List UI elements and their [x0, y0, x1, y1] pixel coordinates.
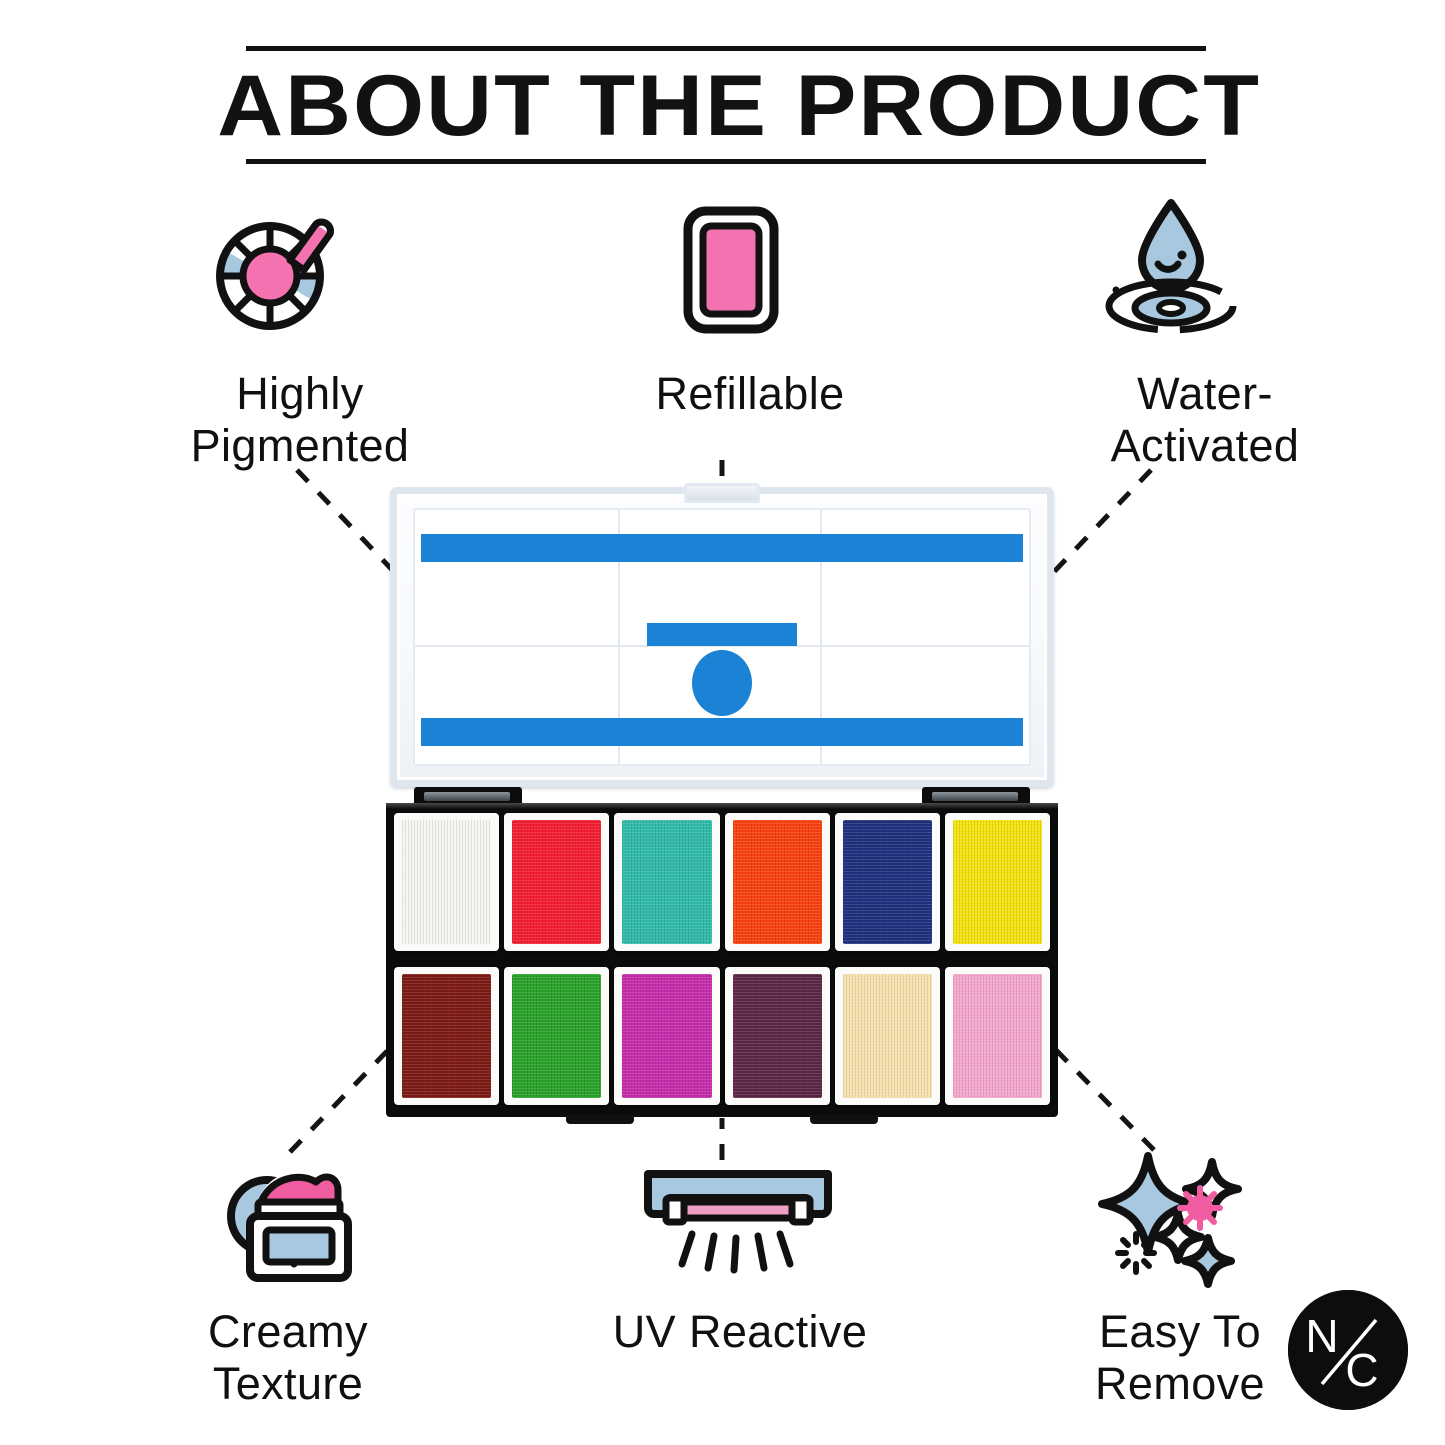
pan-color: [402, 974, 491, 1098]
nc-brand-logo: N C: [1288, 1290, 1408, 1410]
title-rule-bottom: [246, 159, 1206, 164]
pan-cream: [835, 967, 940, 1105]
water-drop-ripple-icon: [1098, 198, 1244, 336]
connector-creamy-texture: [290, 1046, 392, 1152]
sparkles-icon: [1100, 1152, 1260, 1300]
pan-orange-red: [725, 813, 830, 951]
lid-center-dot: [692, 650, 752, 716]
lid-center-bar: [647, 623, 797, 646]
pan-green: [504, 967, 609, 1105]
title-block: ABOUT THE PRODUCT: [246, 46, 1206, 164]
lid-inner-panel: [413, 508, 1031, 766]
pan-color: [622, 820, 711, 944]
connector-water-activated: [1050, 470, 1151, 576]
logo-letter-top: N: [1305, 1310, 1338, 1362]
pan-color: [402, 820, 491, 944]
feature-label-uv-reactive: UV Reactive: [540, 1306, 940, 1358]
pan-light-pink: [945, 967, 1050, 1105]
page-title: ABOUT THE PRODUCT: [217, 57, 1235, 155]
uv-lamp-icon: [640, 1168, 836, 1292]
pan-red: [504, 813, 609, 951]
pan-dark-plum: [725, 967, 830, 1105]
lid-clasp: [684, 483, 760, 503]
pan-color: [843, 974, 932, 1098]
pan-color: [622, 974, 711, 1098]
pan-burgundy: [394, 967, 499, 1105]
pan-teal: [614, 813, 719, 951]
infographic-canvas: ABOUT THE PRODUCT: [0, 0, 1445, 1445]
pan-color: [953, 974, 1042, 1098]
color-wheel-brush-icon: [212, 208, 342, 336]
pan-row-bottom: [394, 967, 1050, 1105]
pan-white: [394, 813, 499, 951]
lid-stripe-bottom: [421, 718, 1023, 746]
palette-base: [386, 803, 1058, 1117]
palette-lid: [390, 487, 1054, 787]
base-foot-right: [810, 1115, 878, 1124]
pan-row-top: [394, 813, 1050, 951]
feature-label-creamy-texture: Creamy Texture: [88, 1306, 488, 1410]
pan-magenta: [614, 967, 719, 1105]
base-foot-left: [566, 1115, 634, 1124]
feature-label-water-activated: Water- Activated: [1020, 368, 1390, 472]
title-rule-top: [246, 46, 1206, 51]
refill-pan-icon: [683, 206, 779, 334]
pan-color: [512, 820, 601, 944]
lid-stripe-top: [421, 534, 1023, 562]
pan-color: [733, 974, 822, 1098]
pan-color: [843, 820, 932, 944]
feature-label-refillable: Refillable: [560, 368, 940, 420]
connector-highly-pigmented: [297, 470, 398, 576]
pan-color: [953, 820, 1042, 944]
face-paint-palette: [386, 487, 1058, 1117]
feature-label-highly-pigmented: Highly Pigmented: [90, 368, 510, 472]
pan-color: [512, 974, 601, 1098]
connector-easy-to-remove: [1052, 1046, 1154, 1150]
pan-color: [733, 820, 822, 944]
pan-navy-blue: [835, 813, 940, 951]
cream-jar-icon: [222, 1166, 362, 1286]
base-top-highlight: [386, 803, 1058, 809]
pan-yellow: [945, 813, 1050, 951]
